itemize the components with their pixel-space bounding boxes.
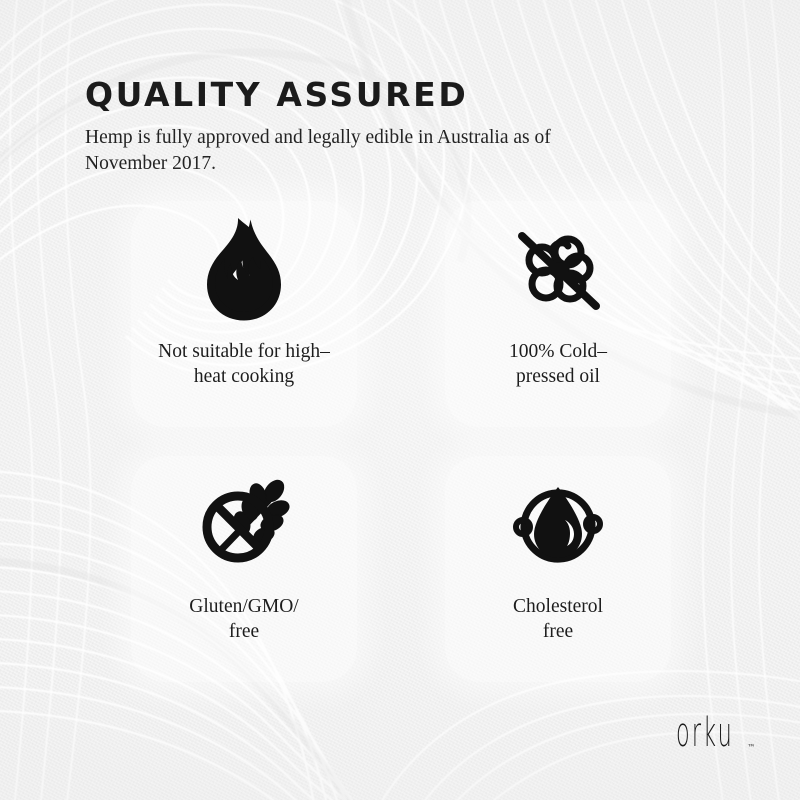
page-title: QUALITY ASSURED — [85, 78, 705, 111]
feature-tile-high-heat: Not suitable for high– heat cooking — [131, 201, 357, 427]
flame-icon — [205, 201, 283, 321]
header: QUALITY ASSURED Hemp is fully approved a… — [85, 78, 705, 176]
feature-label: Not suitable for high– heat cooking — [148, 339, 340, 390]
feature-tile-gluten-gmo-free: Gluten/GMO/ free — [131, 456, 357, 682]
feature-label-line1: 100% Cold– — [509, 341, 607, 362]
feature-label-line2: pressed oil — [516, 366, 600, 387]
brand-wordmark: orku — [676, 714, 734, 754]
feature-tile-cholesterol-free: Cholesterol free — [445, 456, 671, 682]
feature-label-line2: heat cooking — [194, 366, 294, 387]
feature-label-line1: Gluten/GMO/ — [189, 596, 298, 617]
feature-grid: Not suitable for high– heat cooking — [131, 201, 671, 682]
trademark-symbol: ™ — [747, 743, 755, 752]
feature-label-line2: free — [229, 621, 259, 642]
feature-tile-cold-pressed: 100% Cold– pressed oil — [445, 201, 671, 427]
page-subtitle: Hemp is fully approved and legally edibl… — [85, 111, 595, 176]
no-processing-cluster-icon — [510, 201, 606, 321]
cholesterol-droplet-icon — [508, 456, 608, 576]
no-gluten-wheat-icon — [194, 456, 294, 576]
feature-label: Cholesterol free — [503, 594, 613, 645]
feature-label-line1: Cholesterol — [513, 596, 603, 617]
feature-label-line1: Not suitable for high– — [158, 341, 330, 362]
promo-infographic-page: QUALITY ASSURED Hemp is fully approved a… — [0, 0, 800, 800]
feature-label: Gluten/GMO/ free — [179, 594, 308, 645]
brand-logo: orku ™ — [676, 718, 755, 754]
feature-label-line2: free — [543, 621, 573, 642]
feature-label: 100% Cold– pressed oil — [499, 339, 617, 390]
